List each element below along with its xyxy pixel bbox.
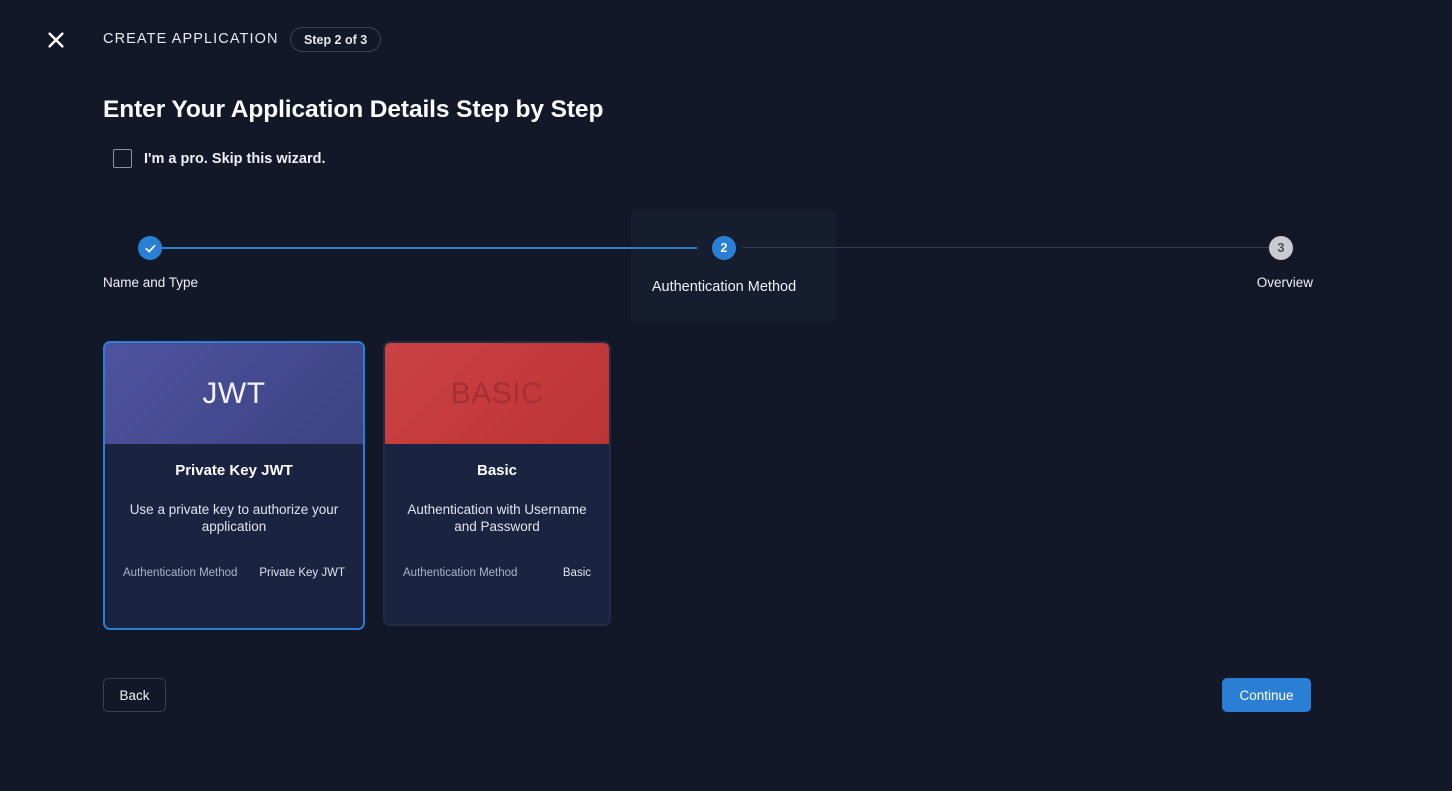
jwt-detail-value: Private Key JWT — [259, 567, 345, 579]
basic-card-detail-row: Authentication Method Basic — [403, 567, 591, 579]
close-icon[interactable] — [38, 22, 74, 58]
continue-button[interactable]: Continue — [1222, 678, 1311, 712]
auth-method-card-list: JWT Private Key JWT Use a private key to… — [103, 341, 611, 630]
wizard-header: CREATE APPLICATION Step 2 of 3 — [0, 0, 1452, 80]
jwt-card-body: Private Key JWT Use a private key to aut… — [105, 444, 363, 628]
jwt-detail-label: Authentication Method — [123, 567, 237, 579]
back-button[interactable]: Back — [103, 678, 166, 712]
basic-card-heading: Basic — [477, 462, 517, 479]
jwt-card-detail-row: Authentication Method Private Key JWT — [123, 567, 345, 579]
basic-card-body: Basic Authentication with Username and P… — [385, 444, 609, 624]
skip-wizard-checkbox[interactable] — [113, 149, 132, 168]
create-application-wizard: CREATE APPLICATION Step 2 of 3 Enter You… — [0, 0, 1452, 791]
page-title: Enter Your Application Details Step by S… — [103, 96, 603, 124]
step-3-label: Overview — [1257, 275, 1313, 290]
jwt-card-heading: Private Key JWT — [175, 462, 293, 479]
step-1-label: Name and Type — [103, 275, 198, 290]
wizard-stepper: Name and Type 2 Authentication Method 3 … — [103, 205, 1313, 325]
stepper-line-upcoming — [742, 247, 1277, 248]
jwt-banner: JWT — [105, 343, 363, 444]
auth-card-basic[interactable]: BASIC Basic Authentication with Username… — [383, 341, 611, 626]
skip-wizard-row[interactable]: I'm a pro. Skip this wizard. — [113, 149, 326, 168]
step-2-circle[interactable]: 2 — [712, 236, 736, 260]
basic-detail-label: Authentication Method — [403, 567, 517, 579]
basic-card-description: Authentication with Username and Passwor… — [403, 501, 591, 535]
step-indicator-badge: Step 2 of 3 — [290, 27, 381, 52]
auth-card-private-key-jwt[interactable]: JWT Private Key JWT Use a private key to… — [103, 341, 365, 630]
jwt-card-description: Use a private key to authorize your appl… — [123, 501, 345, 535]
active-step-highlight — [631, 211, 836, 321]
step-1-circle[interactable] — [138, 236, 162, 260]
basic-banner: BASIC — [385, 343, 609, 444]
stepper-line-completed — [162, 247, 697, 249]
wizard-title: CREATE APPLICATION — [103, 31, 279, 47]
skip-wizard-label: I'm a pro. Skip this wizard. — [144, 151, 326, 167]
basic-detail-value: Basic — [563, 567, 591, 579]
step-3-circle[interactable]: 3 — [1269, 236, 1293, 260]
step-2-label: Authentication Method — [652, 279, 796, 295]
